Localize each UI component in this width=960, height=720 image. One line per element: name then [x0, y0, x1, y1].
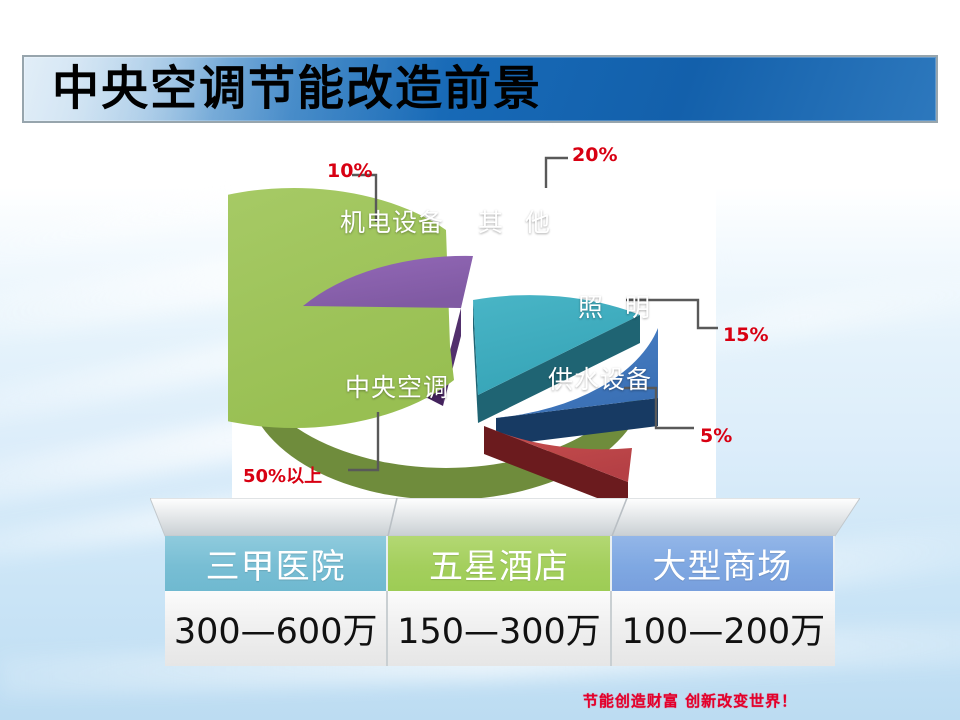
pie-pct-qita: 20% — [572, 144, 617, 166]
pie-label-zhaoming: 照 明 — [578, 288, 657, 324]
table-header-cell: 大型商场 — [612, 536, 835, 591]
comparison-table: 三甲医院 五星酒店 大型商场 300—600万 150—300万 100—200… — [150, 498, 860, 670]
table-header-cell: 三甲医院 — [165, 536, 388, 591]
table-grid: 三甲医院 五星酒店 大型商场 300—600万 150—300万 100—200… — [165, 536, 835, 666]
table-header-cell: 五星酒店 — [388, 536, 611, 591]
table-value-cell: 300—600万 — [165, 591, 388, 666]
pie-pct-gongshuishebei: 5% — [700, 425, 732, 447]
pie-pct-jidianshebei: 10% — [327, 160, 372, 182]
table-value-cell: 100—200万 — [612, 591, 835, 666]
pie-label-qita: 其 他 — [478, 203, 557, 239]
pie-pct-zhaoming: 15% — [723, 324, 768, 346]
pie-pct-zhongyangkongtiao: 50%以上 — [243, 462, 322, 488]
page-title: 中央空调节能改造前景 — [52, 66, 542, 113]
pie-label-gongshuishebei: 供水设备 — [548, 360, 652, 396]
slide-canvas: 中央空调节能改造前景 — [0, 0, 960, 720]
title-bar: 中央空调节能改造前景 — [22, 55, 938, 123]
table-value-cell: 150—300万 — [388, 591, 611, 666]
footer-slogan: 节能创造财富 创新改变世界！ — [0, 690, 960, 711]
leader-line-20pct — [546, 158, 568, 188]
pie-label-jidianshebei: 机电设备 — [340, 203, 444, 239]
pie-label-zhongyangkongtiao: 中央空调 — [345, 368, 449, 404]
